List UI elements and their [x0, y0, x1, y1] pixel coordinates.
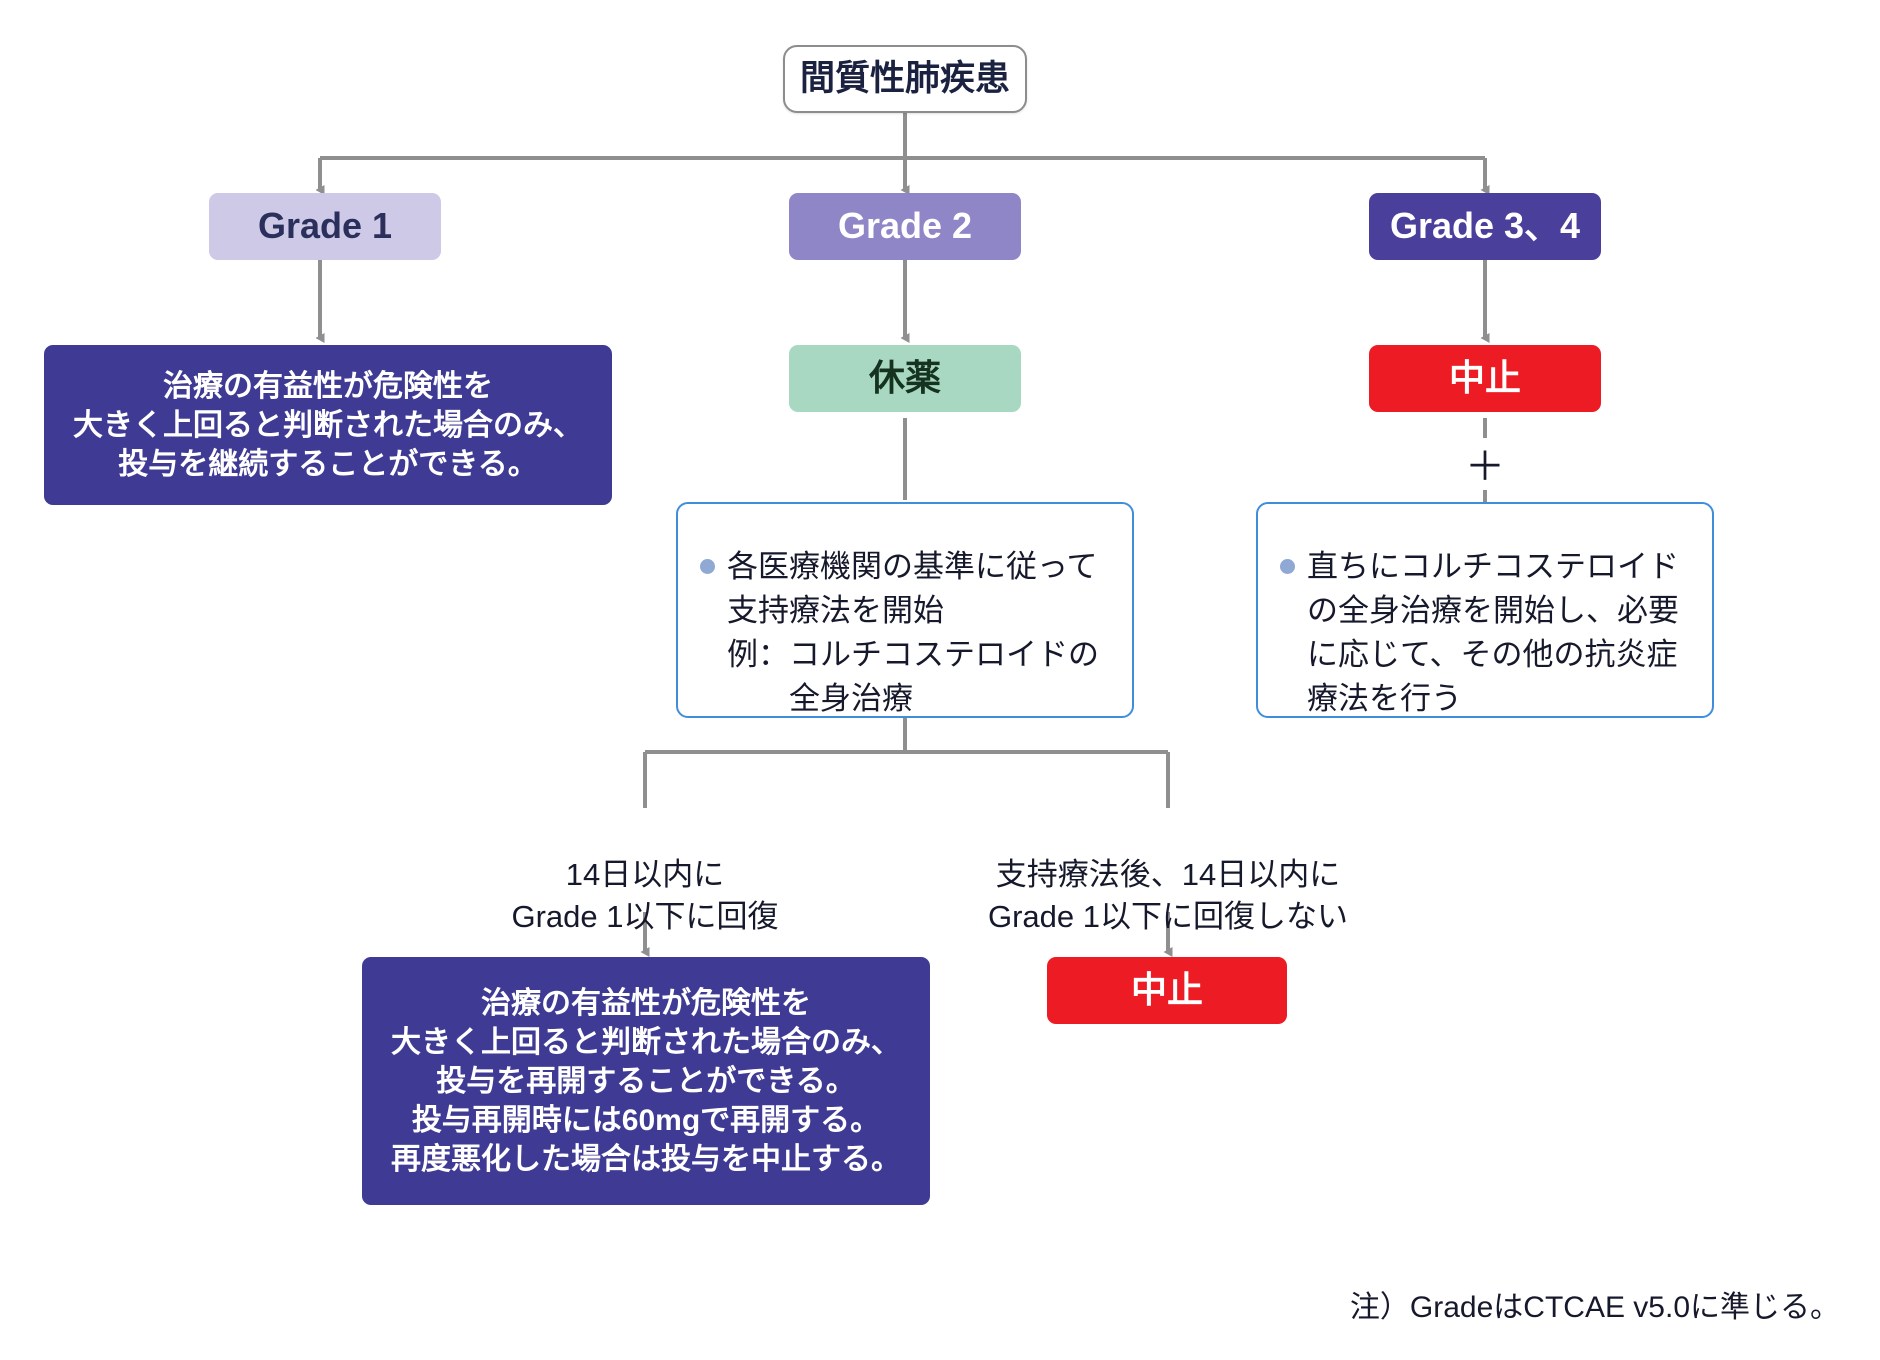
node-grade2-restart-statement[interactable]: 治療の有益性が危険性を 大きく上回ると判断された場合のみ、 投与を再開することが… — [362, 957, 930, 1205]
discontinue-bottom-label: 中止 — [1131, 967, 1203, 1014]
grade1-continue-text: 治療の有益性が危険性を 大きく上回ると判断された場合のみ、 投与を継続することが… — [73, 367, 583, 484]
branch-label-not-recovered-text: 支持療法後、14日以内に Grade 1以下に回復しない — [988, 857, 1348, 934]
bullet-icon — [1280, 559, 1295, 574]
drug-withdrawal-label: 休薬 — [869, 355, 941, 402]
branch-label-not-recovered: 支持療法後、14日以内に Grade 1以下に回復しない — [938, 812, 1398, 938]
callout-corticosteroid[interactable]: 直ちにコルチコステロイド の全身治療を開始し、必要 に応じて、その他の抗炎症 療… — [1256, 502, 1714, 718]
callout-corticosteroid-row: 直ちにコルチコステロイド の全身治療を開始し、必要 に応じて、その他の抗炎症 療… — [1276, 545, 1694, 721]
bullet-icon — [700, 559, 715, 574]
node-discontinue-top[interactable]: 中止 — [1369, 345, 1601, 412]
callout-supportive-text: 各医療機関の基準に従って 支持療法を開始 例：コルチコステロイドの 全身治療 — [727, 545, 1114, 721]
plus-label: ＋ — [1465, 445, 1505, 489]
node-drug-withdrawal[interactable]: 休薬 — [789, 345, 1021, 412]
grade-2-label: Grade 2 — [838, 203, 972, 250]
node-grade1-continue-statement[interactable]: 治療の有益性が危険性を 大きく上回ると判断された場合のみ、 投与を継続することが… — [44, 345, 612, 505]
grade2-restart-text: 治療の有益性が危険性を 大きく上回ると判断された場合のみ、 投与を再開することが… — [391, 984, 901, 1179]
node-root-condition[interactable]: 間質性肺疾患 — [783, 45, 1027, 113]
callout-corticosteroid-text: 直ちにコルチコステロイド の全身治療を開始し、必要 に応じて、その他の抗炎症 療… — [1307, 545, 1694, 721]
footnote: 注）GradeはCTCAE v5.0に準じる。 — [1080, 1248, 1840, 1360]
node-grade-1[interactable]: Grade 1 — [209, 193, 441, 260]
branch-label-recovered-text: 14日以内に Grade 1以下に回復 — [511, 857, 778, 934]
branch-label-recovered: 14日以内に Grade 1以下に回復 — [445, 812, 845, 938]
root-label: 間質性肺疾患 — [800, 56, 1010, 102]
grade-1-label: Grade 1 — [258, 203, 392, 250]
callout-supportive-care[interactable]: 各医療機関の基準に従って 支持療法を開始 例：コルチコステロイドの 全身治療 — [676, 502, 1134, 718]
flowchart-canvas: 間質性肺疾患 Grade 1 Grade 2 Grade 3、4 治療の有益性が… — [0, 0, 1880, 1335]
footnote-text: 注）GradeはCTCAE v5.0に準じる。 — [1350, 1291, 1840, 1324]
node-discontinue-bottom[interactable]: 中止 — [1047, 957, 1287, 1024]
discontinue-top-label: 中止 — [1449, 355, 1521, 402]
grade-3-4-label: Grade 3、4 — [1390, 203, 1580, 250]
node-grade-3-4[interactable]: Grade 3、4 — [1369, 193, 1601, 260]
node-grade-2[interactable]: Grade 2 — [789, 193, 1021, 260]
callout-supportive-row: 各医療機関の基準に従って 支持療法を開始 例：コルチコステロイドの 全身治療 — [696, 545, 1114, 721]
plus-operator: ＋ — [1435, 434, 1535, 492]
